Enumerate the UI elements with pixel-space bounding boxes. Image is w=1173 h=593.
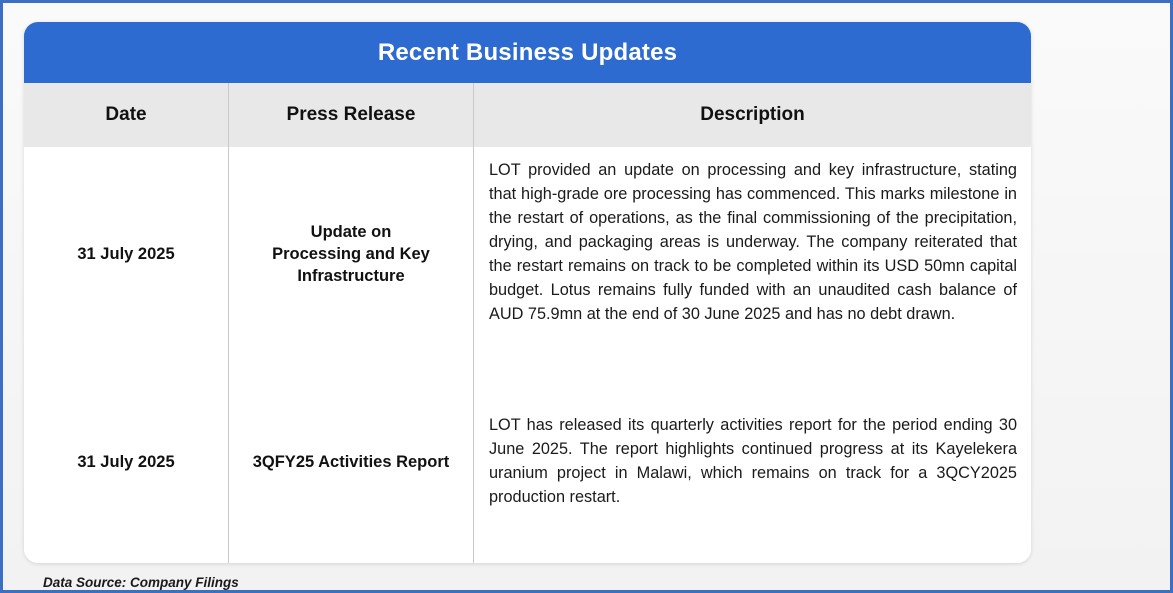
- data-source-label: Data Source: Company Filings: [43, 575, 239, 590]
- cell-press-release: Update on Processing and Key Infrastruct…: [228, 147, 473, 361]
- business-updates-card: Recent Business Updates Date Press Relea…: [24, 22, 1031, 563]
- row-2-description: LOT has released its quarterly activitie…: [489, 414, 1017, 510]
- row-1-date: 31 July 2025: [77, 245, 174, 264]
- row-1-press-release: Update on Processing and Key Infrastruct…: [272, 221, 430, 288]
- table-row: 31 July 2025 Update on Processing and Ke…: [24, 147, 1031, 361]
- column-header-press-release-label: Press Release: [287, 104, 416, 126]
- row-2-press-release: 3QFY25 Activities Report: [253, 451, 450, 473]
- card-title-bar: Recent Business Updates: [24, 22, 1031, 83]
- cell-press-release: 3QFY25 Activities Report: [228, 361, 473, 563]
- cell-date: 31 July 2025: [24, 147, 228, 361]
- column-header-description: Description: [473, 83, 1031, 147]
- page-root: { "card": { "title": "Recent Business Up…: [0, 0, 1173, 593]
- footer-source: Data Source: Company Filings: [24, 563, 1149, 593]
- column-header-date: Date: [24, 83, 228, 147]
- table-body: 31 July 2025 Update on Processing and Ke…: [24, 147, 1031, 563]
- slide-surface: Recent Business Updates Date Press Relea…: [3, 3, 1170, 590]
- row-2-date: 31 July 2025: [77, 453, 174, 472]
- row-1-description: LOT provided an update on processing and…: [489, 159, 1017, 327]
- column-header-press-release: Press Release: [228, 83, 473, 147]
- column-header-description-label: Description: [700, 104, 805, 126]
- table-row: 31 July 2025 3QFY25 Activities Report LO…: [24, 361, 1031, 563]
- cell-description: LOT has released its quarterly activitie…: [473, 361, 1031, 563]
- column-header-date-label: Date: [105, 104, 146, 126]
- cell-description: LOT provided an update on processing and…: [473, 147, 1031, 361]
- page-title: Recent Business Updates: [378, 39, 677, 67]
- table-header-row: Date Press Release Description: [24, 83, 1031, 147]
- cell-date: 31 July 2025: [24, 361, 228, 563]
